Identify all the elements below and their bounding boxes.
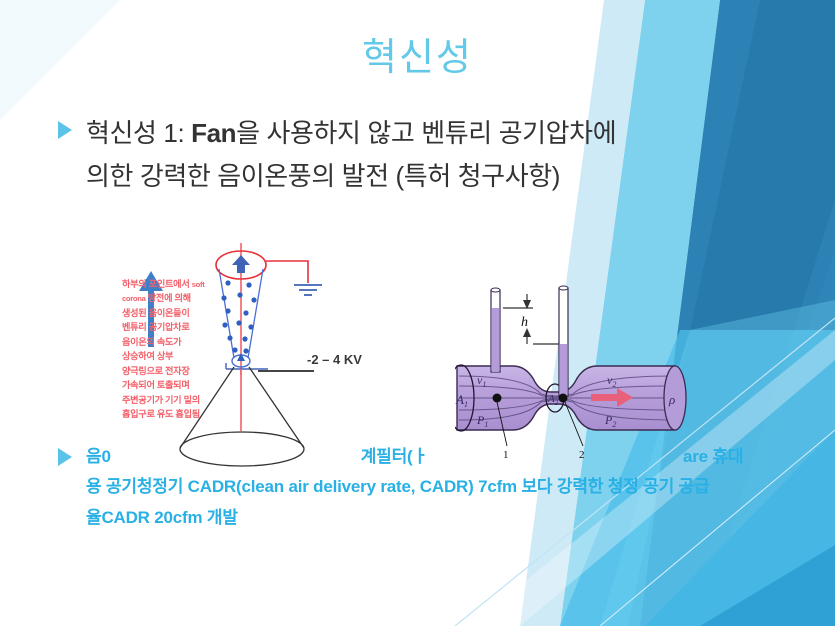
annotation-line-8: 가속되어 토출되며 [122,378,220,392]
ion-diagram-annotation: 하부의 포인트에서 soft corona 방전에 의해 생성된 음이온들이 벤… [122,277,220,421]
svg-text:ρ: ρ [668,392,675,407]
annotation-line-10: 흡입구로 유도 흡입됨 [122,407,220,421]
annotation-line-9: 주변공기가 기기 밑의 [122,393,220,407]
bullet-2-line3: 율CADR 20cfm 개발 [86,503,743,533]
bullet-2-line2: 용 공기청정기 CADR(clean air delivery rate, CA… [86,472,743,502]
bullet-1-line1-c: 을 사용하지 않고 벤튜리 공기압차에 [236,118,616,148]
annotation-line-6: 상승하여 상부 [122,349,220,363]
bullet-2-line1-c: are 휴대 [683,447,743,466]
ground-icon [294,285,322,295]
triangle-right-icon [58,121,72,139]
annotation-line-7: 양극링으로 전자장 [122,364,220,378]
annotation-line-2: corona 방전에 의해 [122,291,220,305]
bullet-1-line1-b: Fan [191,118,236,148]
slide: 혁신성 혁신성 1: Fan을 사용하지 않고 벤튜리 공기압차에 의한 강력한… [0,0,835,626]
bullet-1-line2: 의한 강력한 음이온풍의 발전 (특허 청구사항) [86,155,616,198]
bullet-1-text: 혁신성 1: Fan을 사용하지 않고 벤튜리 공기압차에 의한 강력한 음이온… [86,112,616,198]
annotation-line-4: 벤튜리 공기압차로 [122,320,220,334]
triangle-right-icon [58,448,72,466]
bullet-item-innovation-1: 혁신성 1: Fan을 사용하지 않고 벤튜리 공기압차에 의한 강력한 음이온… [58,112,798,198]
annotation-line-5: 음이온의 속도가 [122,335,220,349]
svg-text:h: h [521,315,528,330]
bullet-1-line1-a: 혁신성 1: [86,118,191,148]
bullet-2-line1-b: 계필터(ㅏ [361,447,428,466]
page-title: 혁신성 [0,38,835,80]
annotation-line-3: 생성된 음이온들이 [122,306,220,320]
bullet-2-text: 음0계필터(ㅏare 휴대 용 공기청정기 CADR(clean air del… [86,442,743,533]
annotation-line-1: 하부의 포인트에서 soft [122,277,220,291]
voltage-label: -2 – 4 KV [307,352,362,367]
bullet-2-line1-a: 음0 [86,447,111,466]
bullet-item-cadr-claim: 음0계필터(ㅏare 휴대 용 공기청정기 CADR(clean air del… [58,442,813,533]
